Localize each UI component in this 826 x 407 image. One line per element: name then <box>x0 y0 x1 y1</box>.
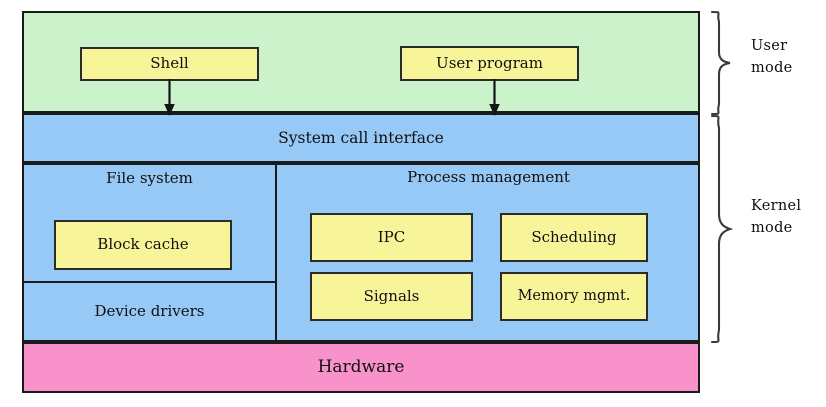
user-program-box: User program <box>400 46 579 81</box>
block-cache-box: Block cache <box>54 220 232 270</box>
scheduling-box: Scheduling <box>500 213 648 262</box>
device-drivers-section: Device drivers <box>24 283 277 340</box>
hardware-band: Hardware <box>22 342 700 393</box>
user-mode-label: User mode <box>751 36 793 80</box>
user-program-to-syscall-arrow-icon <box>483 79 507 117</box>
shell-box: Shell <box>80 47 259 81</box>
kernel-mode-brace-icon <box>706 112 746 346</box>
user-mode-brace-icon <box>706 8 746 118</box>
os-structure-diagram: System call interface File system Device… <box>0 0 826 407</box>
signals-box: Signals <box>310 272 473 321</box>
shell-to-syscall-arrow-icon <box>158 79 182 117</box>
memory-mgmt-box: Memory mgmt. <box>500 272 648 321</box>
kernel-mode-label: Kernel mode <box>751 196 801 240</box>
system-call-interface-band: System call interface <box>22 113 700 163</box>
ipc-box: IPC <box>310 213 473 262</box>
